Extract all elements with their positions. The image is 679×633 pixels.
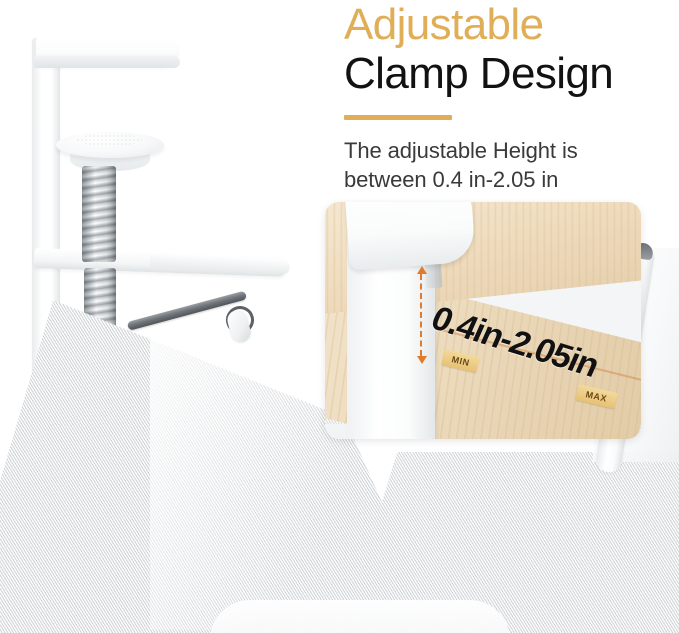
page-title: Clamp Design [344,48,674,100]
mesh-hammock-front-flap [210,600,510,633]
page-title-accent: Adjustable [344,0,674,50]
knob-grip-texture [76,134,142,146]
product-feature-image: Adjustable Clamp Design The adjustable H… [0,0,679,633]
arrow-head-up-icon [417,266,427,274]
subtitle-line-1: The adjustable Height is [344,136,674,165]
arrow-head-down-icon [417,356,427,364]
title-divider [344,115,452,120]
headline-block: Adjustable Clamp Design The adjustable H… [344,0,674,194]
subtitle-text: The adjustable Height is between 0.4 in-… [344,136,674,194]
clamp-threaded-screw-upper [82,166,116,262]
clamp-upper-jaw-underside [34,56,180,68]
dimension-arrow-icon [420,274,425,356]
subtitle-line-2: between 0.4 in-2.05 in [344,165,674,194]
detail-inset-panel: 0.4in-2.05in MIN MAX [325,202,641,439]
